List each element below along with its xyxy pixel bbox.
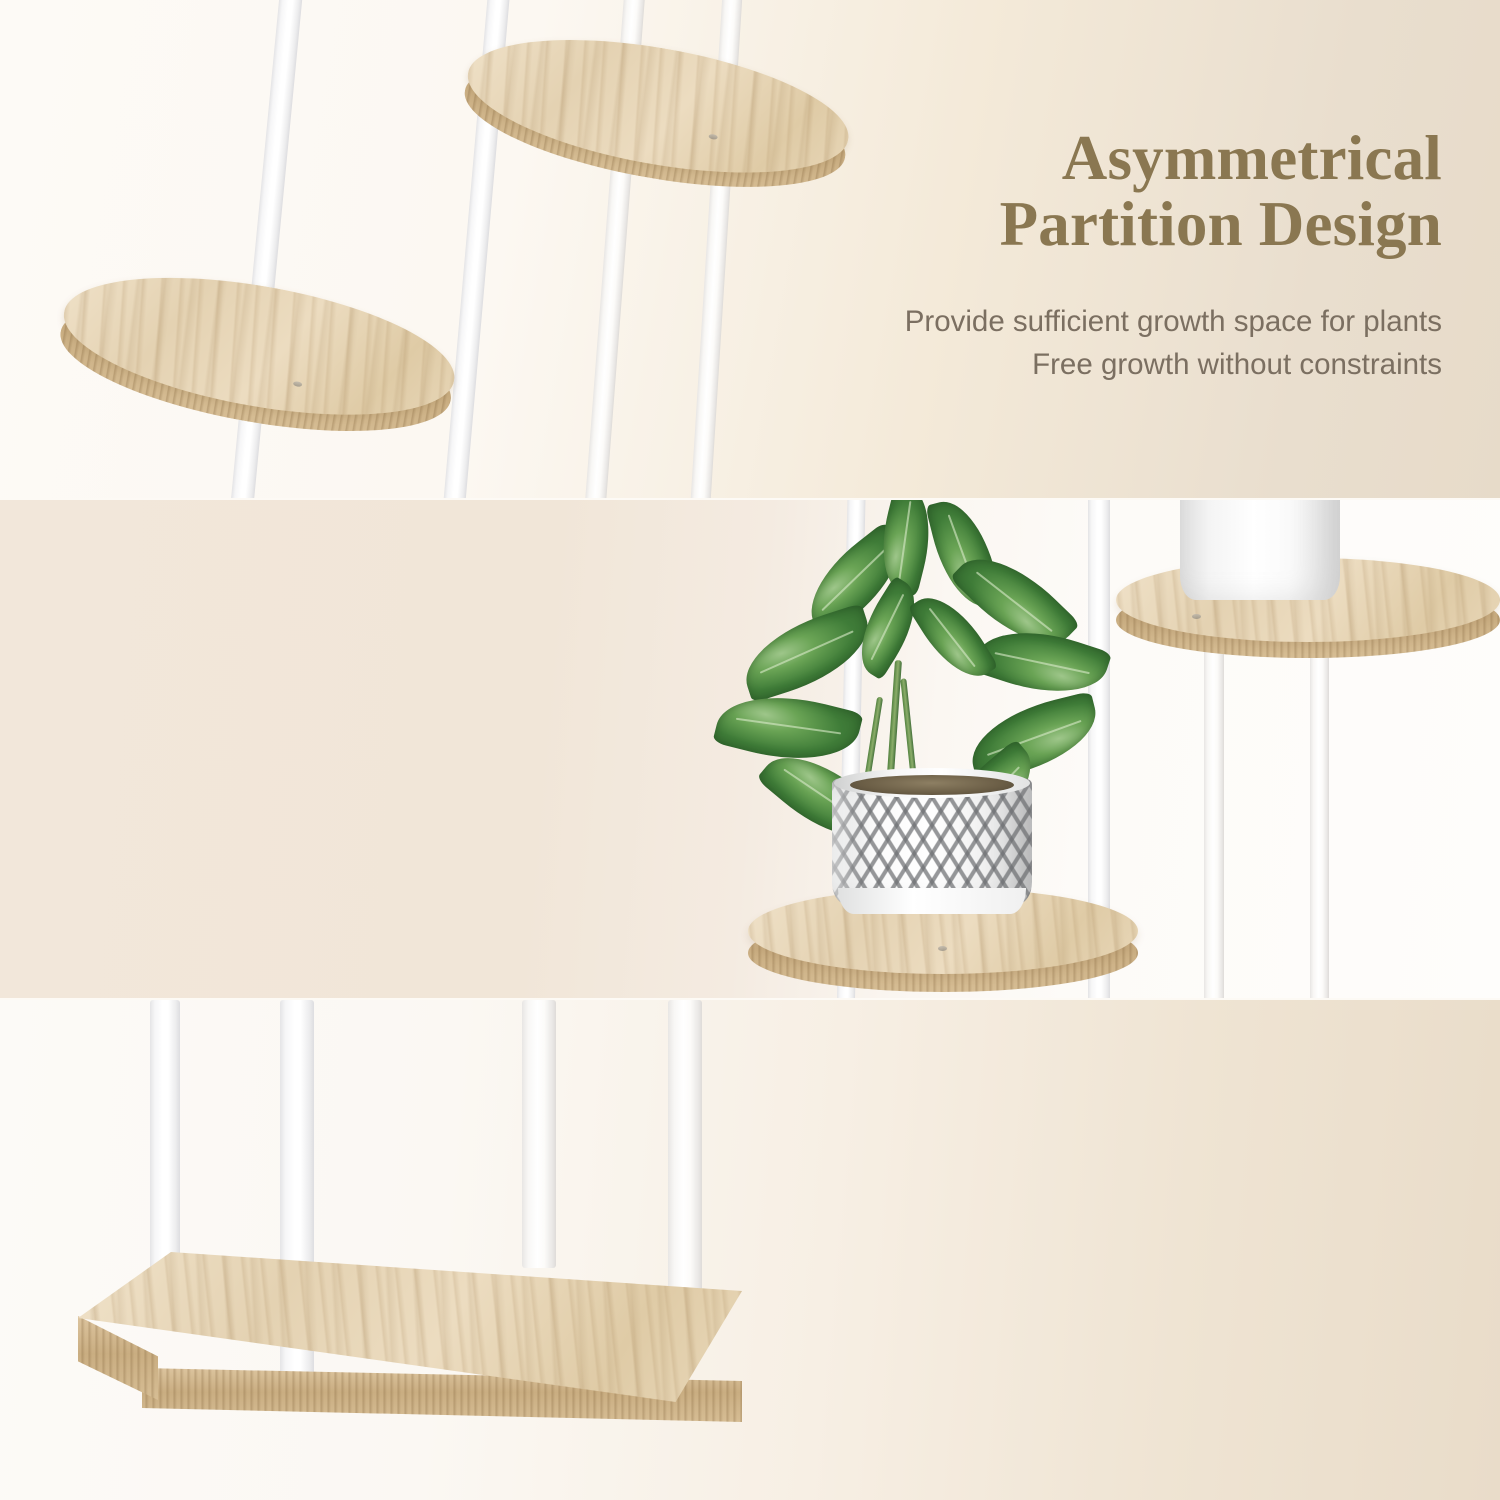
product-feature-infographic: Asymmetrical Partition Design Provide su… xyxy=(0,0,1500,1500)
photo-plant-on-stand xyxy=(620,500,1500,998)
panel-body-line-1: Provide sufficient growth space for plan… xyxy=(905,301,1442,344)
panel-stable-structure: Stable Structure It's more reassuring no… xyxy=(0,500,1500,998)
copy-block-asymmetrical-partition: Asymmetrical Partition Design Provide su… xyxy=(905,126,1442,387)
panel-body-line-2: Free growth without constraints xyxy=(905,344,1442,387)
pot-soil xyxy=(850,775,1014,795)
panel-widened-floor: Widened Floor Better maintain stability … xyxy=(0,1000,1500,1500)
panel-heading-line-2: Partition Design xyxy=(1000,189,1442,259)
panel-heading-line-1: Asymmetrical xyxy=(1062,123,1442,193)
panel-asymmetrical-partition: Asymmetrical Partition Design Provide su… xyxy=(0,0,1500,498)
shelf-square-base xyxy=(78,1252,742,1446)
panel-heading: Asymmetrical Partition Design xyxy=(905,126,1442,257)
shelf-round-upper xyxy=(452,16,859,233)
panel-body: Provide sufficient growth space for plan… xyxy=(905,301,1442,387)
plant-leaf xyxy=(734,603,881,703)
frame-post xyxy=(1204,628,1224,998)
frame-post xyxy=(522,1000,556,1268)
photo-widened-base xyxy=(0,1000,800,1500)
pot-foot xyxy=(838,888,1026,914)
shelf-round-lower xyxy=(47,253,464,475)
frame-post xyxy=(1310,628,1329,998)
planter-pot-white xyxy=(1180,500,1340,600)
assembly-screw xyxy=(938,946,947,951)
planter-pot-patterned xyxy=(832,768,1032,916)
base-left-edge xyxy=(78,1316,158,1400)
photo-asymmetrical-shelves xyxy=(0,0,900,498)
assembly-screw xyxy=(1192,614,1201,619)
